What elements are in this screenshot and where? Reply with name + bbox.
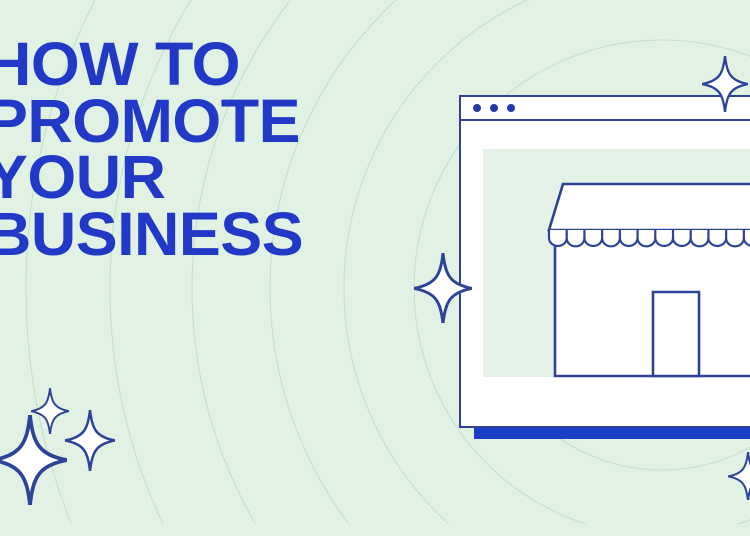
sparkle-bottom-right [728, 452, 750, 501]
headline-line-1: HOW TO [0, 36, 419, 93]
sparkle-bottom-left-small [31, 388, 69, 434]
shop-awning-canopy [549, 184, 750, 230]
headline-line-4: BUSINESS [0, 206, 419, 263]
browser-dot-maximize-icon [507, 104, 515, 112]
sparkle-top-right [702, 56, 748, 112]
sparkle-bottom-left-medium [65, 410, 115, 471]
page-title: HOW TO PROMOTE YOUR BUSINESS [0, 36, 406, 263]
browser-window-mock [459, 95, 750, 428]
bottom-edge-strip [0, 524, 750, 536]
sparkle-mid-left-of-browser [414, 253, 472, 324]
shop-awning-scallops [549, 230, 750, 246]
storefront-icon [547, 180, 750, 382]
headline-line-2: PROMOTE [0, 93, 419, 150]
poster-canvas: HOW TO PROMOTE YOUR BUSINESS [0, 0, 750, 536]
browser-dot-minimize-icon [490, 104, 498, 112]
headline-line-3: YOUR [0, 149, 419, 206]
browser-dot-close-icon [473, 104, 481, 112]
awning-scallop-row [549, 230, 750, 246]
shop-door [653, 292, 699, 376]
